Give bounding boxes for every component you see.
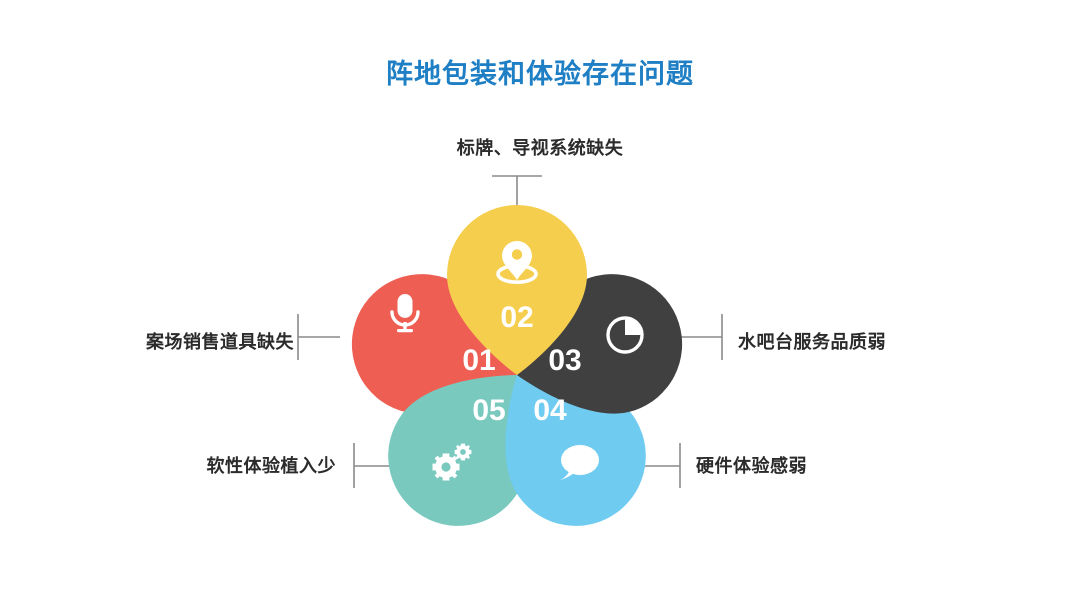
page-title: 阵地包装和体验存在问题 (0, 52, 1080, 91)
petal-05-label: 软性体验植入少 (207, 452, 337, 478)
petal-03-number: 03 (548, 344, 581, 377)
petal-02-number: 02 (500, 301, 533, 334)
petal-04-label: 硬件体验感弱 (696, 452, 807, 478)
petal-diagram: 01 02 03 04 05 (317, 175, 717, 575)
petal-02-label: 标牌、导视系统缺失 (0, 134, 1080, 160)
slide-canvas: 阵地包装和体验存在问题 (0, 0, 1080, 608)
petal-01-number: 01 (462, 344, 495, 377)
petal-04-number: 04 (533, 394, 567, 427)
petal-03-label: 水吧台服务品质弱 (738, 328, 886, 354)
petal-01-label: 案场销售道具缺失 (146, 328, 294, 354)
petal-05-number: 05 (472, 394, 505, 427)
